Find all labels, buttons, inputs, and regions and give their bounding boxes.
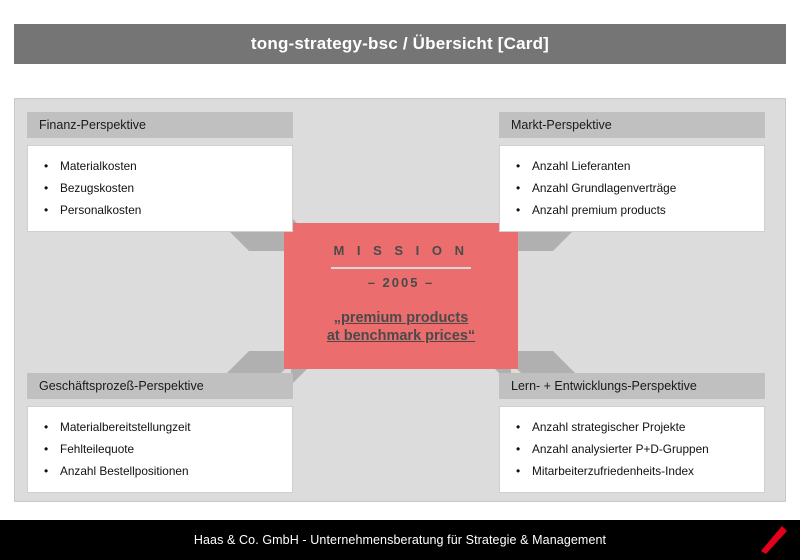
page-footer: Haas & Co. GmbH - Unternehmensberatung f… <box>0 520 800 560</box>
quadrant-finance-header: Finanz-Perspektive <box>27 112 293 138</box>
quadrant-business-process-header: Geschäftsprozeß-Perspektive <box>27 373 293 399</box>
quadrant-market-header: Markt-Perspektive <box>499 112 765 138</box>
balanced-scorecard-canvas: M I S S I O N – 2005 – „premium products… <box>14 98 786 502</box>
list-item: Anzahl strategischer Projekte <box>512 416 752 438</box>
list-item: Materialkosten <box>40 155 280 177</box>
mission-year: – 2005 – <box>368 275 435 290</box>
list-item: Anzahl Bestellpositionen <box>40 460 280 482</box>
quadrant-business-process[interactable]: Geschäftsprozeß-Perspektive Materialbere… <box>27 373 293 493</box>
quadrant-market[interactable]: Markt-Perspektive Anzahl Lieferanten Anz… <box>499 112 765 232</box>
quadrant-business-process-title: Geschäftsprozeß-Perspektive <box>39 379 204 393</box>
list-item: Personalkosten <box>40 199 280 221</box>
list-item: Materialbereitstellungzeit <box>40 416 280 438</box>
list-item: Mitarbeiterzufriedenheits-Index <box>512 460 752 482</box>
quadrant-business-process-list: Materialbereitstellungzeit Fehlteilequot… <box>40 416 280 482</box>
quadrant-learning-growth-list: Anzahl strategischer Projekte Anzahl ana… <box>512 416 752 482</box>
list-item: Anzahl analysierter P+D-Gruppen <box>512 438 752 460</box>
page-title-bar: tong-strategy-bsc / Übersicht [Card] <box>14 24 786 64</box>
quadrant-learning-growth-header: Lern- + Entwicklungs-Perspektive <box>499 373 765 399</box>
quadrant-learning-growth[interactable]: Lern- + Entwicklungs-Perspektive Anzahl … <box>499 373 765 493</box>
footer-company-text: Haas & Co. GmbH - Unternehmensberatung f… <box>194 533 606 547</box>
mission-statement-line-1: „premium products <box>327 309 475 327</box>
mission-statement-line-2: at benchmark prices“ <box>327 327 475 345</box>
quadrant-finance-title: Finanz-Perspektive <box>39 118 146 132</box>
mission-box: M I S S I O N – 2005 – „premium products… <box>284 223 518 369</box>
quadrant-business-process-body: Materialbereitstellungzeit Fehlteilequot… <box>27 406 293 493</box>
quadrant-market-body: Anzahl Lieferanten Anzahl Grundlagenvert… <box>499 145 765 232</box>
quadrant-finance-list: Materialkosten Bezugskosten Personalkost… <box>40 155 280 221</box>
quadrant-market-title: Markt-Perspektive <box>511 118 612 132</box>
list-item: Bezugskosten <box>40 177 280 199</box>
list-item: Anzahl premium products <box>512 199 752 221</box>
mission-title: M I S S I O N <box>333 243 468 258</box>
quadrant-finance[interactable]: Finanz-Perspektive Materialkosten Bezugs… <box>27 112 293 232</box>
mission-statement: „premium products at benchmark prices“ <box>327 309 475 345</box>
company-logo-icon <box>758 524 788 556</box>
page-title: tong-strategy-bsc / Übersicht [Card] <box>251 34 549 54</box>
list-item: Anzahl Grundlagenverträge <box>512 177 752 199</box>
mission-divider <box>331 267 471 269</box>
list-item: Anzahl Lieferanten <box>512 155 752 177</box>
quadrant-market-list: Anzahl Lieferanten Anzahl Grundlagenvert… <box>512 155 752 221</box>
list-item: Fehlteilequote <box>40 438 280 460</box>
quadrant-learning-growth-body: Anzahl strategischer Projekte Anzahl ana… <box>499 406 765 493</box>
quadrant-learning-growth-title: Lern- + Entwicklungs-Perspektive <box>511 379 697 393</box>
quadrant-finance-body: Materialkosten Bezugskosten Personalkost… <box>27 145 293 232</box>
